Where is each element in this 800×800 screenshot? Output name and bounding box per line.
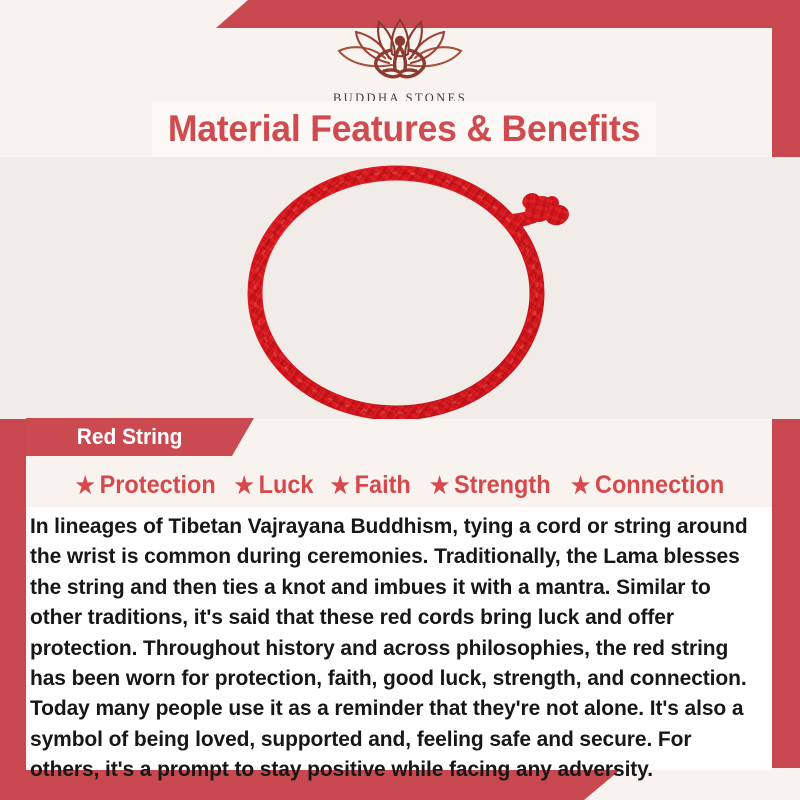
description-block: In lineages of Tibetan Vajrayana Buddhis… <box>28 507 772 770</box>
benefits-row: ★ Protection ★ Luck ★ Faith ★ Strength ★… <box>26 464 774 506</box>
benefit-item-connection: ★ Connection <box>571 471 724 500</box>
benefit-item-luck: ★ Luck <box>235 471 314 500</box>
star-icon: ★ <box>235 474 254 497</box>
benefit-item-protection: ★ Protection <box>75 471 215 500</box>
description-text: In lineages of Tibetan Vajrayana Buddhis… <box>30 511 749 785</box>
benefit-item-faith: ★ Faith <box>331 471 411 500</box>
benefit-label: Connection <box>595 471 724 500</box>
star-icon: ★ <box>429 474 448 497</box>
benefit-label: Faith <box>355 471 411 500</box>
benefit-item-strength: ★ Strength <box>429 471 550 500</box>
product-label-band: Red String <box>26 418 254 456</box>
infographic-page: BUDDHA STONES Material Features & Benefi… <box>0 0 800 800</box>
page-title: Material Features & Benefits <box>168 108 640 150</box>
star-icon: ★ <box>75 474 94 497</box>
title-banner: Material Features & Benefits <box>152 101 656 157</box>
star-icon: ★ <box>571 474 590 497</box>
brand-header: BUDDHA STONES <box>0 0 800 108</box>
benefit-label: Protection <box>100 471 216 500</box>
product-photo-area <box>0 157 800 419</box>
benefit-label: Luck <box>259 471 314 500</box>
benefit-label: Strength <box>453 471 550 500</box>
star-icon: ★ <box>331 474 350 497</box>
product-label: Red String <box>77 424 183 450</box>
red-string-bracelet-image <box>0 157 800 419</box>
lotus-meditation-icon <box>329 13 471 87</box>
brand-logo: BUDDHA STONES <box>329 13 471 106</box>
